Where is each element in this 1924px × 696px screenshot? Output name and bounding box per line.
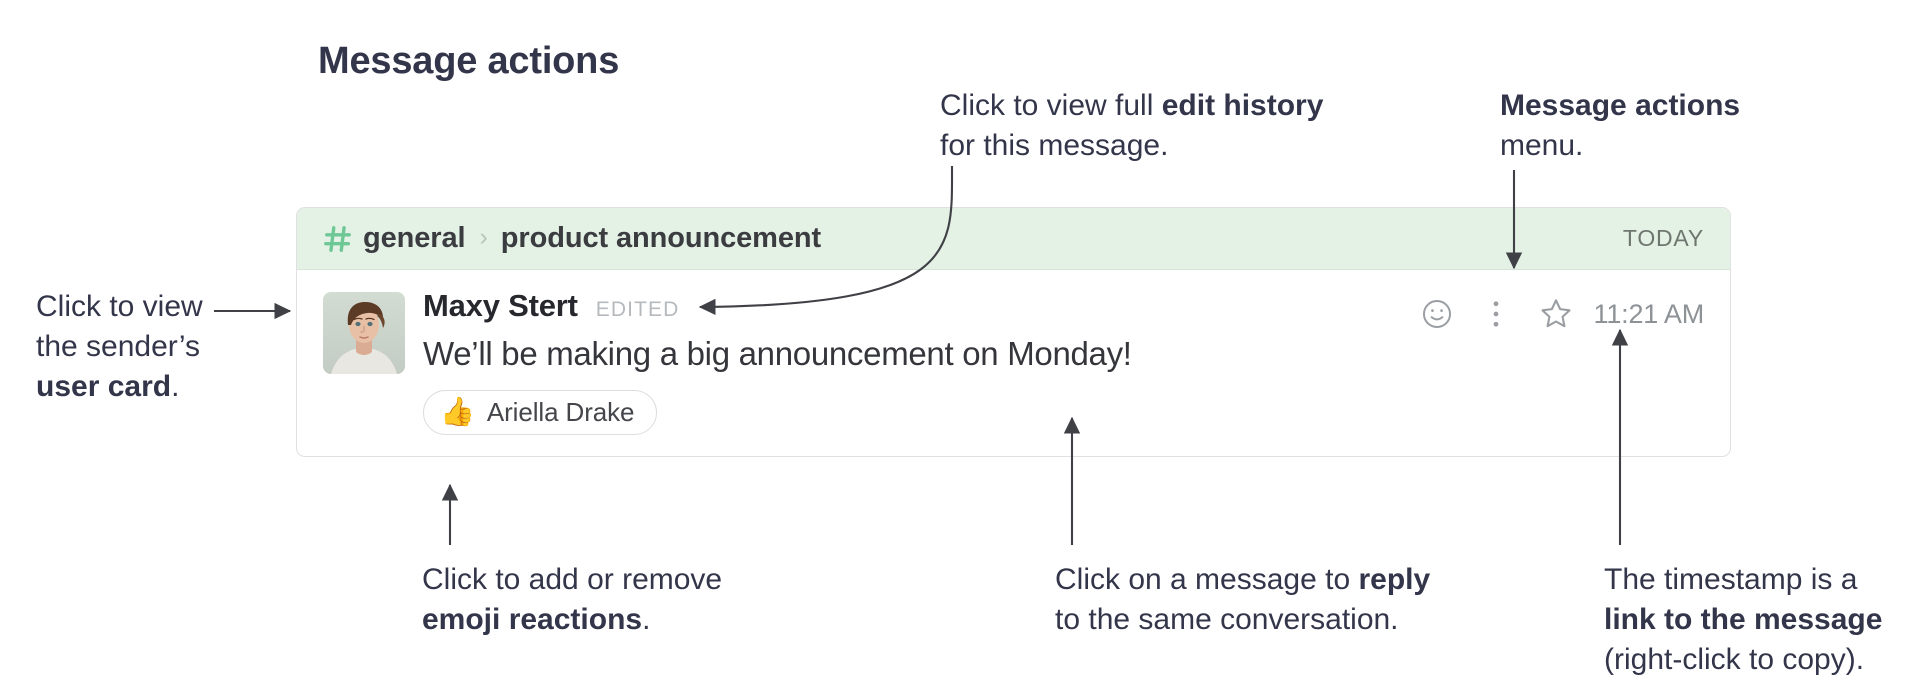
more-actions-icon[interactable] <box>1484 297 1508 331</box>
annotation-line: (right-click to copy). <box>1604 640 1914 680</box>
annotation-line: Click to view full edit history <box>940 86 1370 126</box>
channel-breadcrumb-header: general › product announcement TODAY <box>297 208 1730 270</box>
annotation-line: link to the message <box>1604 600 1914 640</box>
annotation-edit-history: Click to view full edit history for this… <box>940 86 1370 166</box>
annotation-line: Click to add or remove <box>422 560 782 600</box>
hash-icon <box>323 224 353 254</box>
reaction-pill[interactable]: 👍 Ariella Drake <box>423 390 657 435</box>
date-label: TODAY <box>1623 225 1704 252</box>
message-actions-toolbar: 11:21 AM <box>1420 296 1704 332</box>
reaction-row: 👍 Ariella Drake <box>423 390 1704 435</box>
annotation-line: Message actions <box>1500 86 1830 126</box>
annotation-line: to the same conversation. <box>1055 600 1455 640</box>
annotation-line: the sender’s <box>36 327 266 367</box>
breadcrumb-channel[interactable]: general <box>363 222 465 255</box>
message-text[interactable]: We’ll be making a big announcement on Mo… <box>423 334 1704 374</box>
message-card: general › product announcement TODAY <box>296 207 1731 457</box>
annotation-line: for this message. <box>940 126 1370 166</box>
annotation-line: Click to view <box>36 287 266 327</box>
sender-name[interactable]: Maxy Stert <box>423 288 578 324</box>
annotation-line: The timestamp is a <box>1604 560 1914 600</box>
annotation-line: user card. <box>36 367 266 407</box>
annotation-line: Click on a message to reply <box>1055 560 1455 600</box>
thumbs-up-icon: 👍 <box>440 398 475 426</box>
annotation-line: menu. <box>1500 126 1830 166</box>
breadcrumb-topic[interactable]: product announcement <box>501 222 821 255</box>
chevron-right-icon: › <box>479 225 487 250</box>
annotation-timestamp-link: The timestamp is a link to the message (… <box>1604 560 1914 680</box>
emoji-picker-icon[interactable] <box>1420 297 1454 331</box>
annotation-user-card: Click to view the sender’s user card. <box>36 287 266 407</box>
avatar[interactable] <box>323 292 405 374</box>
annotation-emoji-reactions: Click to add or remove emoji reactions. <box>422 560 782 640</box>
annotation-message-actions-menu: Message actions menu. <box>1500 86 1830 166</box>
reaction-label: Ariella Drake <box>487 397 635 428</box>
annotation-reply: Click on a message to reply to the same … <box>1055 560 1455 640</box>
page-title: Message actions <box>318 40 619 83</box>
star-icon[interactable] <box>1538 296 1574 332</box>
annotation-line: emoji reactions. <box>422 600 782 640</box>
edited-badge[interactable]: EDITED <box>596 298 680 322</box>
timestamp-link[interactable]: 11:21 AM <box>1594 299 1704 330</box>
message-row[interactable]: Maxy Stert EDITED We’ll be making a big … <box>297 270 1730 435</box>
